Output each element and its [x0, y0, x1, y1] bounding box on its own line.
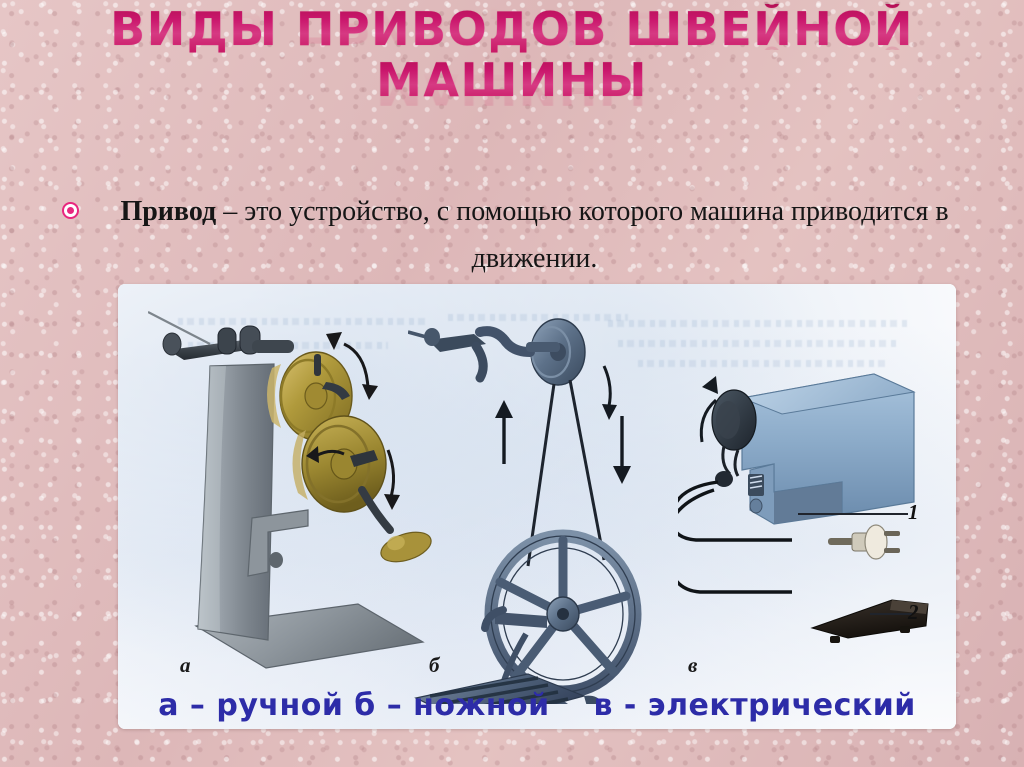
hand-drive-illustration	[148, 304, 448, 704]
figure-caption: а – ручной б – ножной в - электрический	[118, 688, 956, 723]
callout-1-leader	[798, 513, 908, 515]
title-line-1: ВИДЫ ПРИВОДОВ ШВЕЙНОЙ	[0, 4, 1024, 55]
figure-label-v: в	[688, 653, 697, 678]
page-title: ВИДЫ ПРИВОДОВ ШВЕЙНОЙ МАШИНЫ	[0, 4, 1024, 106]
definition-rest: – это устройство, с помощью которого маш…	[216, 196, 948, 274]
title-reflection-line2: МАШИНЫ	[0, 112, 1024, 163]
illustration-panel: 1 2 а б в а – ручной б – ножной в - элек…	[118, 284, 956, 729]
callout-2-number: 2	[908, 600, 919, 625]
slide-canvas: ВИДЫ ПРИВОДОВ ШВЕЙНОЙ МАШИНЫ ВИДЫ ПРИВОД…	[0, 0, 1024, 767]
definition-text: Привод – это устройство, с помощью котор…	[95, 188, 974, 282]
figure-label-a: а	[180, 653, 191, 678]
callout-1-number: 1	[908, 500, 919, 525]
callout-2-leader	[870, 613, 912, 615]
figure-label-b: б	[429, 653, 439, 678]
title-line-2: МАШИНЫ	[0, 55, 1024, 106]
definition-term: Привод	[120, 196, 216, 227]
definition-block: Привод – это устройство, с помощью котор…	[62, 188, 974, 282]
target-bullet-icon	[62, 202, 79, 219]
